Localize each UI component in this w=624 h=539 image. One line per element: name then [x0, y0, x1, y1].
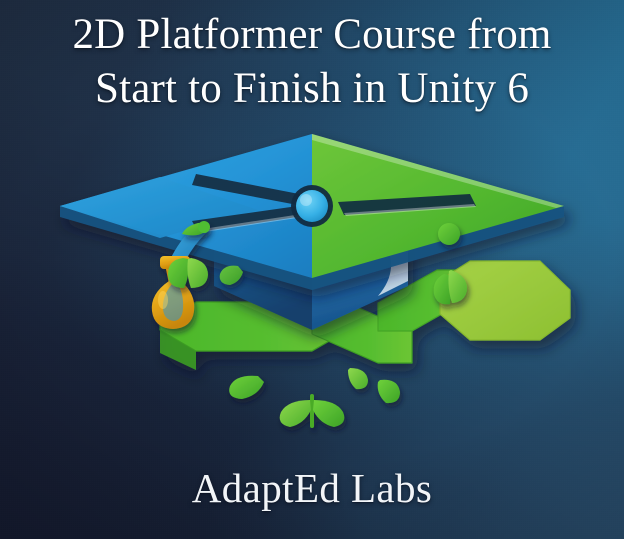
dot-right-icon: [438, 223, 460, 245]
course-title: 2D Platformer Course from Start to Finis…: [0, 8, 624, 116]
graduation-cap-logo: [0, 118, 624, 448]
loose-leaf-mid-right: [348, 368, 368, 389]
course-title-line-2: Start to Finish in Unity 6: [0, 62, 624, 116]
cap-button-icon: [296, 190, 328, 222]
brand-name: AdaptEd Labs: [0, 463, 624, 513]
sprout-bottom-icon: [280, 394, 345, 428]
sprout-bottom-leaf-right: [313, 400, 344, 427]
cap-center-button: [291, 185, 333, 227]
course-thumbnail: 2D Platformer Course from Start to Finis…: [0, 0, 624, 539]
sprout-bottom-stem: [310, 394, 314, 428]
sprout-left-leaf-b: [187, 258, 208, 288]
course-title-line-1: 2D Platformer Course from: [0, 8, 624, 62]
loose-leaf-left: [229, 376, 264, 399]
sprout-bottom-leaf-left: [280, 400, 311, 427]
loose-leaf-far-right: [378, 380, 400, 403]
